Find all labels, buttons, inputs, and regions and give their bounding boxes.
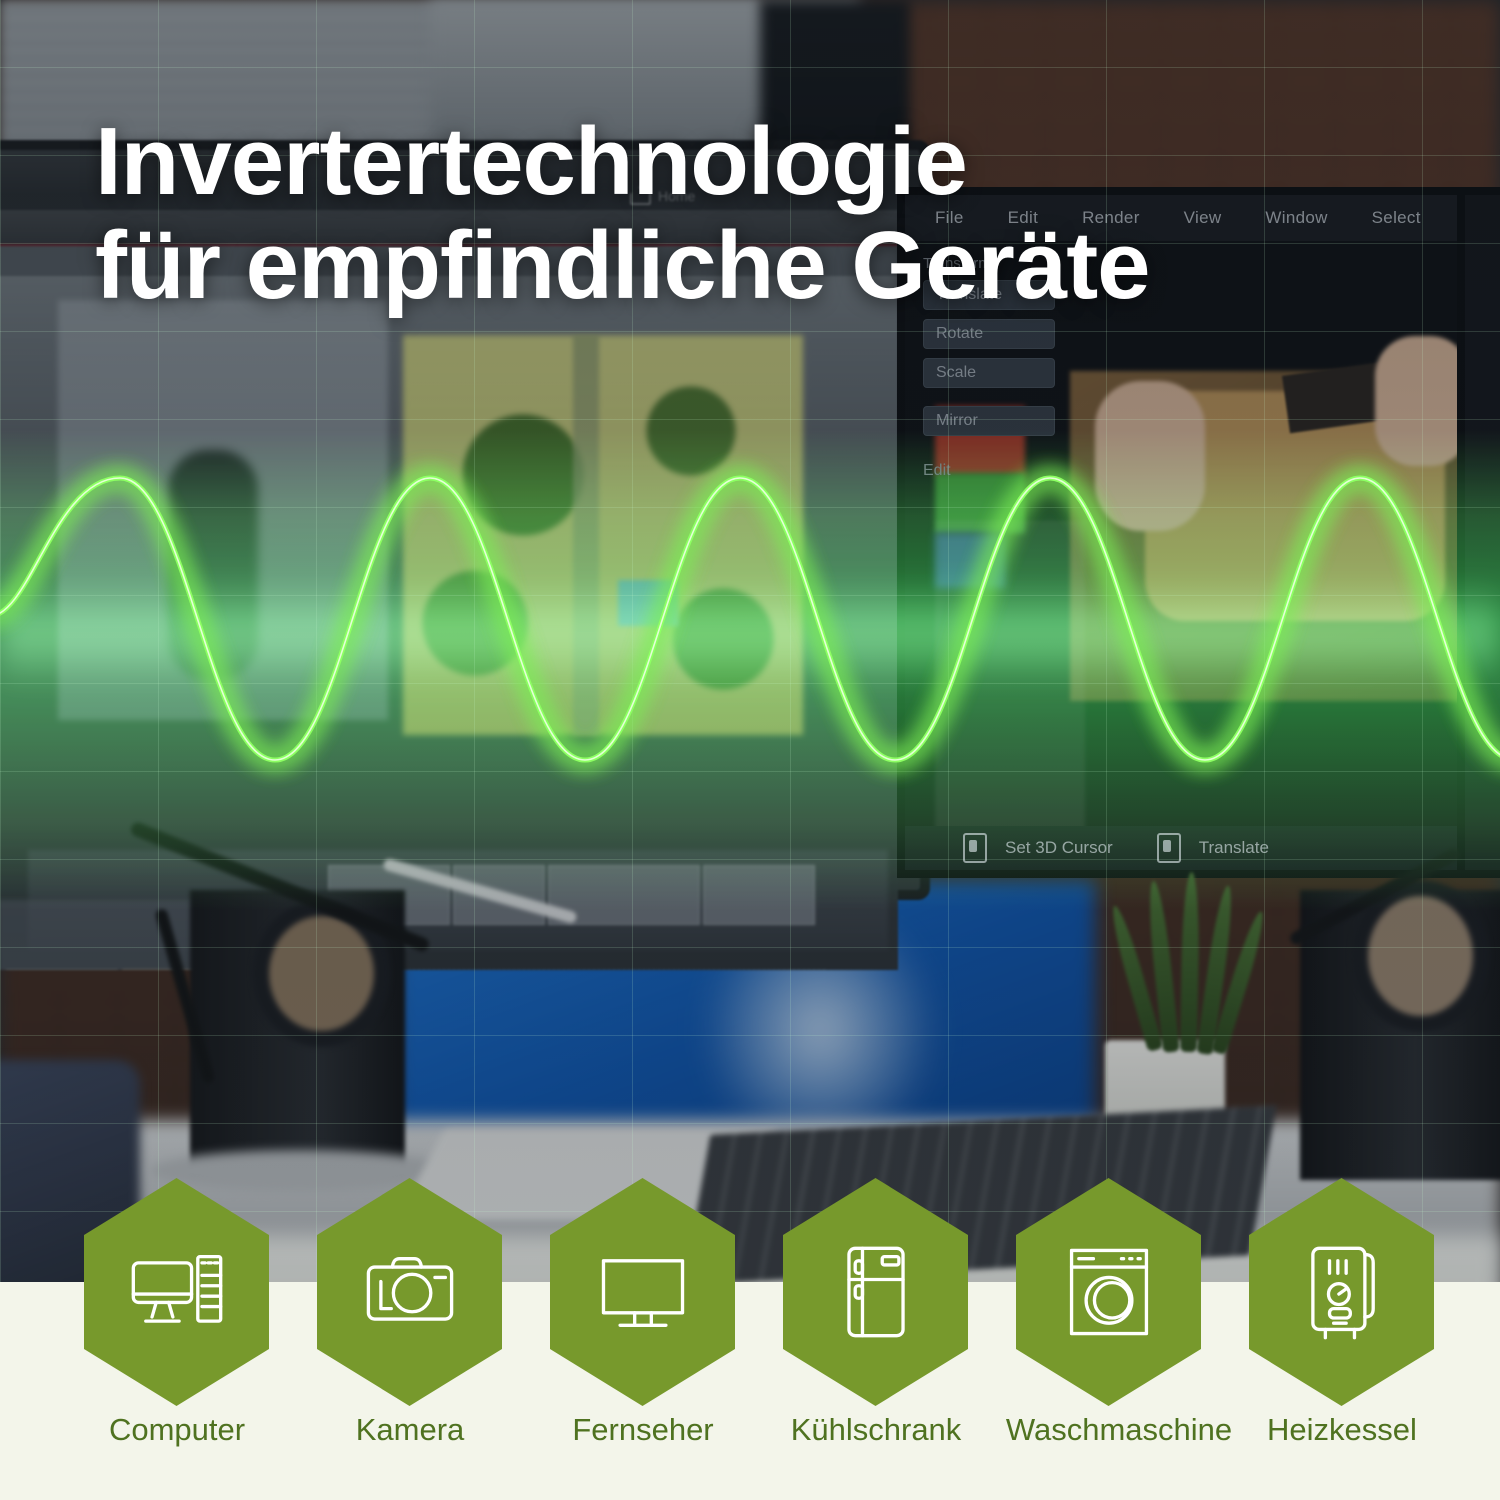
device-label-camera: Kamera <box>295 1412 525 1448</box>
headline-line-1: Invertertechnologie <box>95 108 967 215</box>
computer-icon <box>125 1240 229 1344</box>
device-label-row: Computer Kamera Fernseher Kühlschrank Wa… <box>0 1412 1500 1472</box>
headline-line-2: für empfindliche Geräte <box>95 214 1415 318</box>
device-label-computer: Computer <box>62 1412 292 1448</box>
device-label-refrigerator: Kühlschrank <box>761 1412 991 1448</box>
device-hex-washing-machine[interactable] <box>1016 1178 1201 1406</box>
camera-icon <box>358 1240 462 1344</box>
boiler-icon <box>1290 1240 1394 1344</box>
device-label-boiler: Heizkessel <box>1227 1412 1457 1448</box>
device-label-washing-machine: Waschmaschine <box>984 1412 1254 1448</box>
device-hex-camera[interactable] <box>317 1178 502 1406</box>
refrigerator-icon <box>824 1240 928 1344</box>
page-title: Invertertechnologie für empfindliche Ger… <box>95 110 1415 317</box>
device-hex-refrigerator[interactable] <box>783 1178 968 1406</box>
device-icon-row <box>0 1178 1500 1418</box>
device-label-television: Fernseher <box>528 1412 758 1448</box>
device-hex-boiler[interactable] <box>1249 1178 1434 1406</box>
device-hex-computer[interactable] <box>84 1178 269 1406</box>
washing-machine-icon <box>1057 1240 1161 1344</box>
device-hex-television[interactable] <box>550 1178 735 1406</box>
television-icon <box>591 1240 695 1344</box>
poster-canvas: Home File Edit Render View Window Select… <box>0 0 1500 1500</box>
